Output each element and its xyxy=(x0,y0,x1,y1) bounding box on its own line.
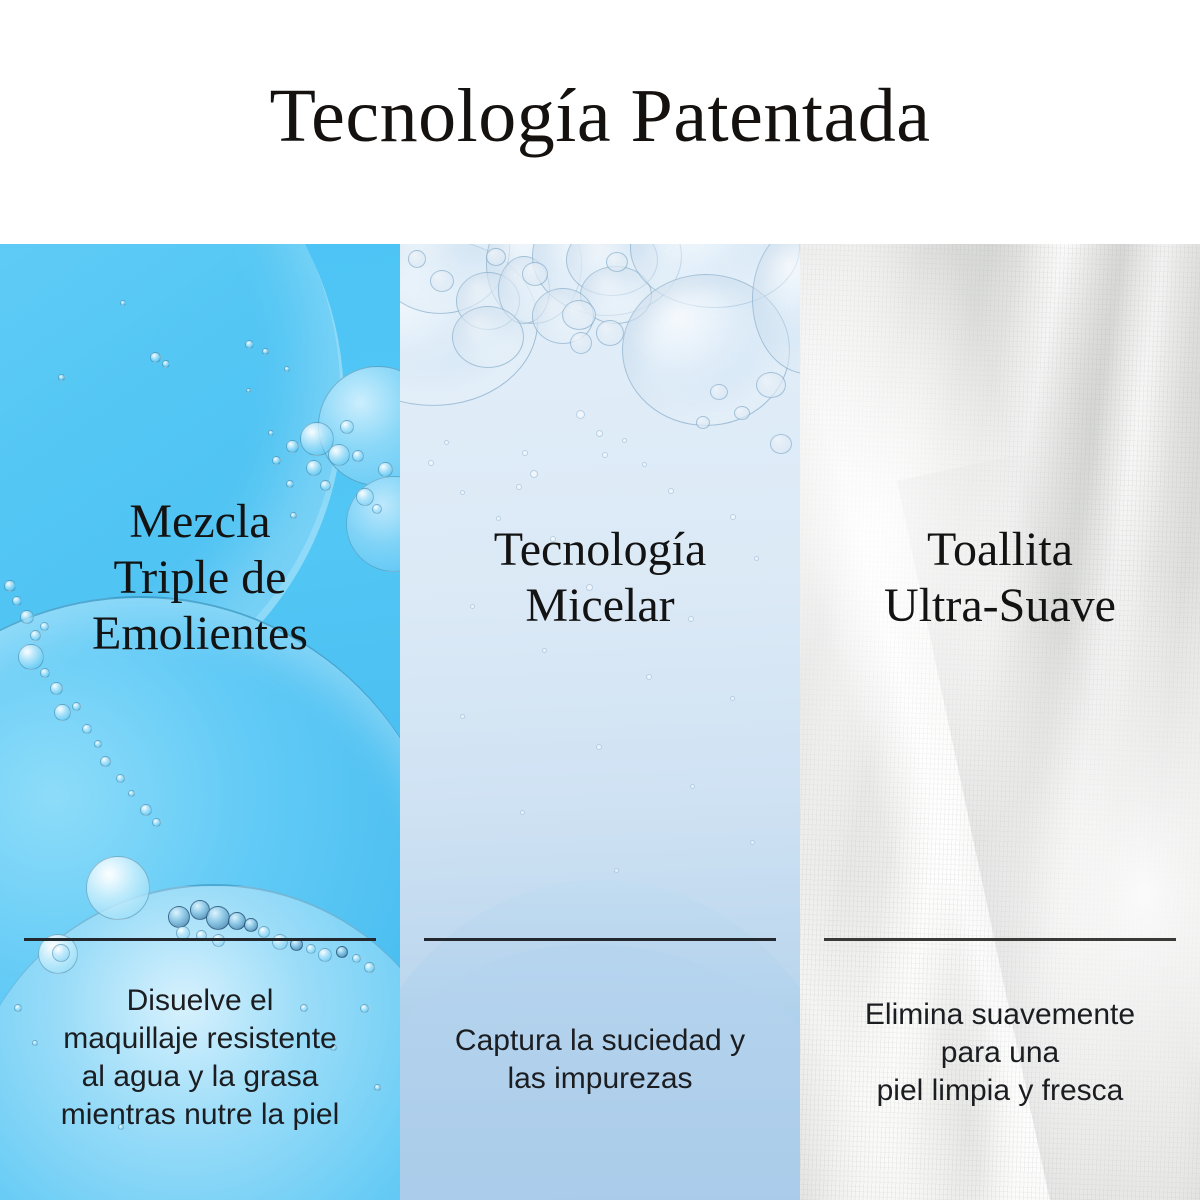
panel-divider-toallita xyxy=(824,938,1176,941)
panel-divider-micelar xyxy=(424,938,776,941)
panel-content-micelar: Tecnología Micelar Captura la suciedad y… xyxy=(400,244,800,1200)
header-band: Tecnología Patentada xyxy=(0,0,1200,244)
panel-body-toallita: Elimina suavemente para una piel limpia … xyxy=(800,996,1200,1110)
feature-panels: Mezcla Triple de Emolientes Disuelve el … xyxy=(0,244,1200,1200)
panel-heading-toallita: Toallita Ultra-Suave xyxy=(800,522,1200,634)
panel-body-micelar: Captura la suciedad y las impurezas xyxy=(400,1022,800,1098)
panel-heading-emolientes: Mezcla Triple de Emolientes xyxy=(0,494,400,662)
panel-content-toallita: Toallita Ultra-Suave Elimina suavemente … xyxy=(800,244,1200,1200)
feature-panel-toallita: Toallita Ultra-Suave Elimina suavemente … xyxy=(800,244,1200,1200)
feature-panel-emolientes: Mezcla Triple de Emolientes Disuelve el … xyxy=(0,244,400,1200)
panel-heading-micelar: Tecnología Micelar xyxy=(400,522,800,634)
panel-body-emolientes: Disuelve el maquillaje resistente al agu… xyxy=(0,982,400,1134)
patented-technology-infographic: Tecnología Patentada xyxy=(0,0,1200,1200)
page-title: Tecnología Patentada xyxy=(270,78,931,154)
panel-content-emolientes: Mezcla Triple de Emolientes Disuelve el … xyxy=(0,244,400,1200)
feature-panel-micelar: Tecnología Micelar Captura la suciedad y… xyxy=(400,244,800,1200)
panel-divider-emolientes xyxy=(24,938,376,941)
